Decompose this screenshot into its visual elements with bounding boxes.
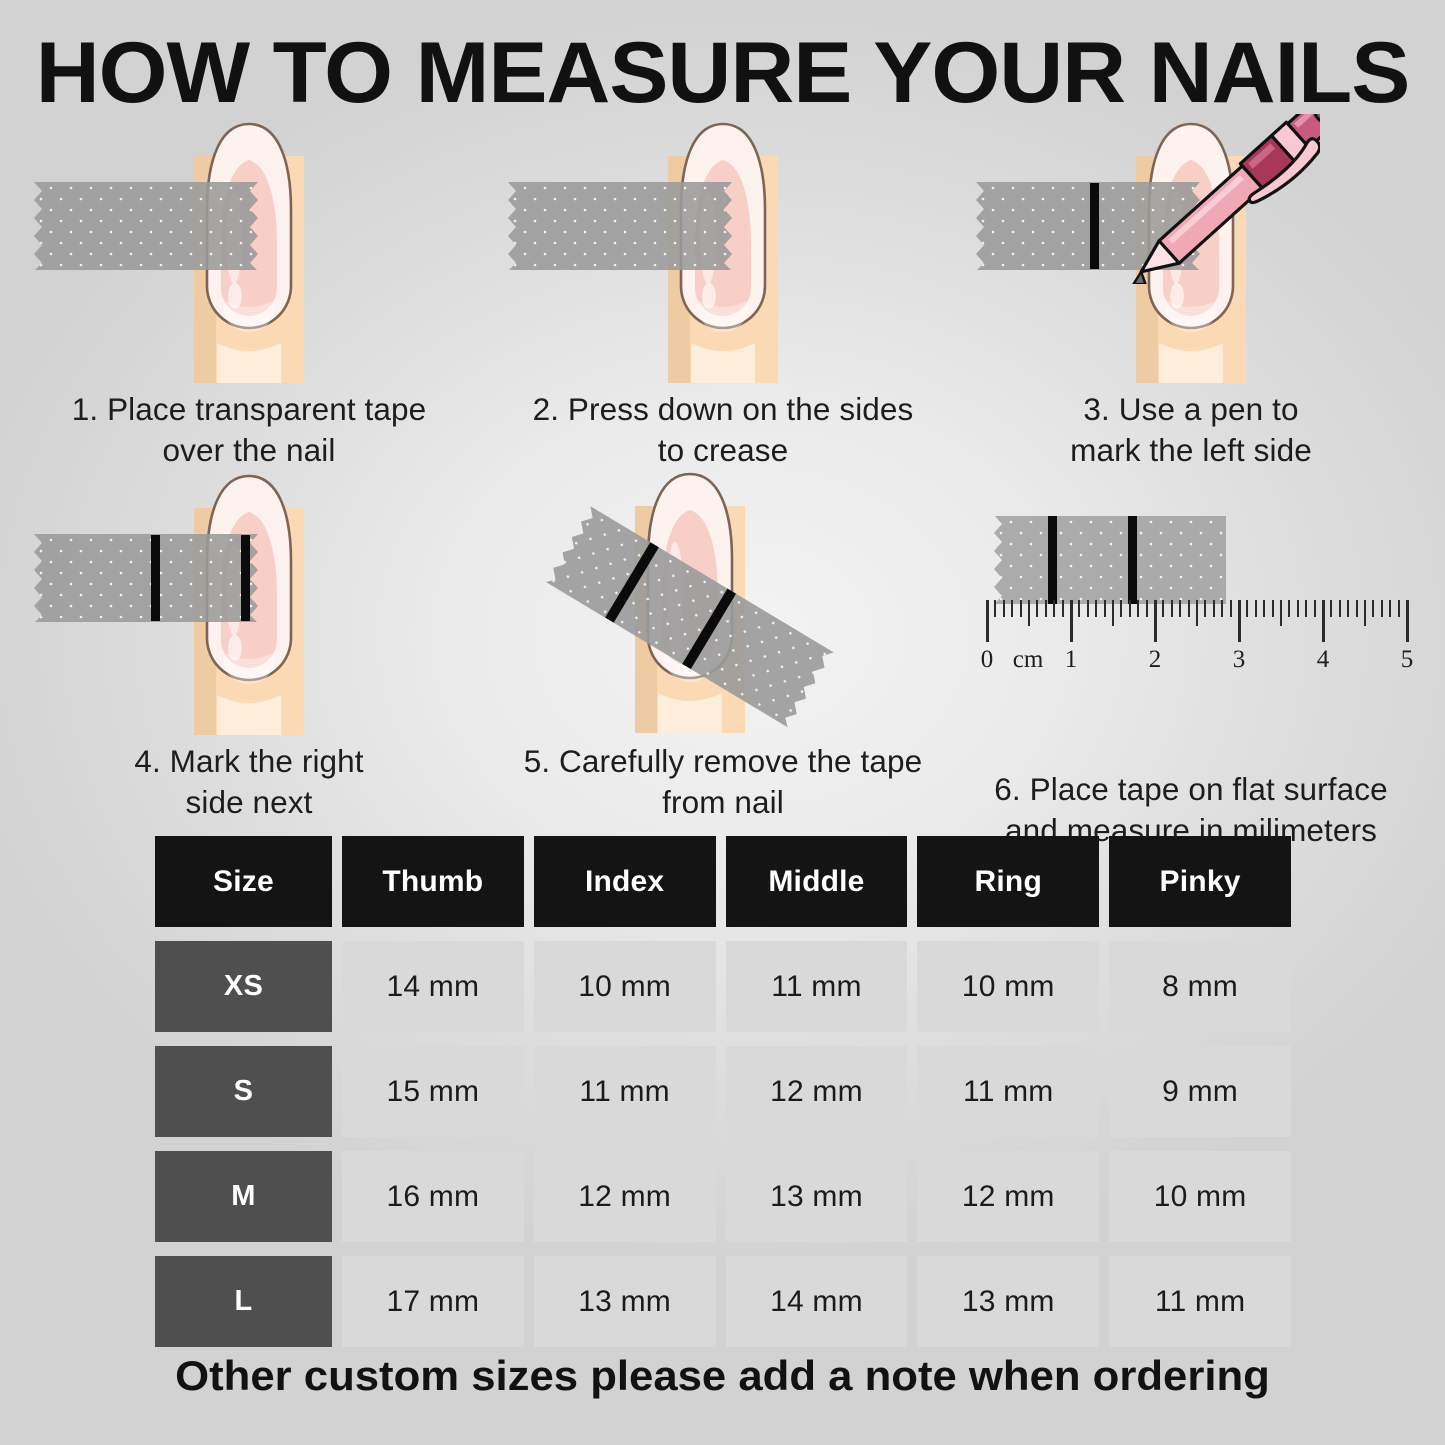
ruler-tick-minor — [1246, 600, 1248, 617]
ruler-tick-minor — [1179, 600, 1181, 617]
step-6-figure: 012345cm — [950, 470, 1432, 735]
step-5: 5. Carefully remove the tape from nail — [482, 470, 964, 823]
step-5-caption: 5. Carefully remove the tape from nail — [482, 741, 964, 823]
step-1: 1. Place transparent tape over the nail — [8, 118, 490, 471]
table-header-index: Index — [534, 836, 716, 927]
tape-strip — [986, 516, 1226, 609]
ruler-tick-minor — [1406, 600, 1409, 642]
ruler-tick-minor — [1028, 600, 1030, 626]
measurement-cell: 16 mm — [342, 1151, 524, 1242]
page-title: HOW TO MEASURE YOUR NAILS — [0, 24, 1445, 123]
ruler-label-4: 4 — [1317, 646, 1330, 674]
ruler-tick-minor — [1322, 600, 1325, 642]
ruler-tick-minor — [1095, 600, 1097, 617]
step-3-figure — [950, 118, 1432, 383]
measurement-cell: 12 mm — [726, 1046, 908, 1137]
step-4-caption-line2: side next — [8, 782, 490, 823]
ruler-tick-minor — [1196, 600, 1198, 626]
tape-strip — [26, 182, 266, 275]
ruler-tick-minor — [1356, 600, 1358, 617]
step-5-caption-line1: 5. Carefully remove the tape — [482, 741, 964, 782]
ruler-tick-minor — [1146, 600, 1148, 617]
step-3-caption: 3. Use a pen to mark the left side — [950, 389, 1432, 471]
ruler-tick-minor — [1104, 600, 1106, 617]
ruler-tick-minor — [1171, 600, 1173, 617]
tape-strip — [26, 534, 266, 627]
step-3-caption-line2: mark the left side — [950, 430, 1432, 471]
ruler-tick-minor — [1263, 600, 1265, 617]
ruler-tick-minor — [1078, 600, 1080, 617]
measurement-cell: 11 mm — [726, 941, 908, 1032]
measurement-cell: 8 mm — [1109, 941, 1291, 1032]
step-4-caption-line1: 4. Mark the right — [8, 741, 490, 782]
step-2-caption-line1: 2. Press down on the sides — [482, 389, 964, 430]
step-4: 4. Mark the right side next — [8, 470, 490, 823]
measurement-cell: 14 mm — [726, 1256, 908, 1347]
ruler-tick-minor — [986, 600, 989, 642]
measurement-cell: 13 mm — [726, 1151, 908, 1242]
table-header-ring: Ring — [917, 836, 1099, 927]
table-header-size: Size — [155, 836, 332, 927]
ruler-tick-minor — [1036, 600, 1038, 617]
ruler-tick-minor — [1288, 600, 1290, 617]
measurement-cell: 15 mm — [342, 1046, 524, 1137]
ruler-tick-minor — [1297, 600, 1299, 617]
step-2-caption: 2. Press down on the sides to crease — [482, 389, 964, 471]
ruler-tick-minor — [994, 600, 996, 617]
ruler-tick-minor — [1188, 600, 1190, 617]
ruler-tick-minor — [1062, 600, 1064, 617]
footer-note: Other custom sizes please add a note whe… — [0, 1352, 1445, 1400]
tape-strip — [500, 182, 740, 275]
step-5-caption-line2: from nail — [482, 782, 964, 823]
ruler-label-3: 3 — [1233, 646, 1246, 674]
table-row: L17 mm13 mm14 mm13 mm11 mm — [155, 1256, 1291, 1347]
ruler-tick-minor — [1381, 600, 1383, 617]
ruler-tick-minor — [1213, 600, 1215, 617]
ruler-tick-minor — [1347, 600, 1349, 617]
ruler-label-0: 0 — [981, 646, 994, 674]
ruler-tick-minor — [1154, 600, 1157, 642]
ruler-tick-minor — [1204, 600, 1206, 617]
measurement-cell: 9 mm — [1109, 1046, 1291, 1137]
ruler-tick-minor — [1129, 600, 1131, 617]
size-label-cell: XS — [155, 941, 332, 1032]
size-table: SizeThumbIndexMiddleRingPinky XS14 mm10 … — [155, 836, 1291, 1361]
ruler-tick-minor — [1314, 600, 1316, 617]
measurement-cell: 11 mm — [1109, 1256, 1291, 1347]
ruler-tick-minor — [1255, 600, 1257, 617]
size-label-cell: S — [155, 1046, 332, 1137]
step-3-caption-line1: 3. Use a pen to — [950, 389, 1432, 430]
step-4-figure — [8, 470, 490, 735]
ruler-tick-minor — [1272, 600, 1274, 617]
ruler-tick-minor — [1372, 600, 1374, 617]
measurement-cell: 13 mm — [917, 1256, 1099, 1347]
ruler-tick-minor — [1364, 600, 1366, 626]
table-header-thumb: Thumb — [342, 836, 524, 927]
ruler-tick-minor — [1011, 600, 1013, 617]
step-6: 012345cm 6. Place tape on flat surface a… — [950, 470, 1432, 851]
step-1-caption-line2: over the nail — [8, 430, 490, 471]
measurement-cell: 12 mm — [917, 1151, 1099, 1242]
ruler-label-5: 5 — [1401, 646, 1414, 674]
step-3: 3. Use a pen to mark the left side — [950, 118, 1432, 471]
step-1-caption: 1. Place transparent tape over the nail — [8, 389, 490, 471]
ruler-tick-minor — [1112, 600, 1114, 626]
ruler-tick-minor — [1330, 600, 1332, 617]
step-1-figure — [8, 118, 490, 383]
ruler-tick-minor — [1070, 600, 1073, 642]
ruler-tick-minor — [1305, 600, 1307, 617]
step-5-figure — [482, 470, 964, 735]
table-body: XS14 mm10 mm11 mm10 mm8 mmS15 mm11 mm12 … — [155, 941, 1291, 1347]
ruler-tick-minor — [1162, 600, 1164, 617]
table-header-pinky: Pinky — [1109, 836, 1291, 927]
ruler-tick-minor — [1120, 600, 1122, 617]
mark-line-left — [1090, 183, 1099, 269]
ruler-tick-minor — [1280, 600, 1282, 626]
ruler-tick-minor — [1045, 600, 1047, 617]
ruler-tick-minor — [1003, 600, 1005, 617]
step-6-caption-line1: 6. Place tape on flat surface — [950, 769, 1432, 810]
ruler-tick-minor — [1339, 600, 1341, 617]
measurement-cell: 17 mm — [342, 1256, 524, 1347]
measurement-cell: 11 mm — [917, 1046, 1099, 1137]
table-row: S15 mm11 mm12 mm11 mm9 mm — [155, 1046, 1291, 1137]
size-label-cell: M — [155, 1151, 332, 1242]
ruler-label-1: 1 — [1065, 646, 1078, 674]
mark-line-right — [241, 535, 250, 621]
ruler-tick-minor — [1137, 600, 1139, 617]
measurement-cell: 14 mm — [342, 941, 524, 1032]
ruler-tick-minor — [1053, 600, 1055, 617]
step-1-caption-line1: 1. Place transparent tape — [8, 389, 490, 430]
measurement-cell: 12 mm — [534, 1151, 716, 1242]
table-header-row: SizeThumbIndexMiddleRingPinky — [155, 836, 1291, 927]
ruler-tick-minor — [1238, 600, 1241, 642]
pen-icon — [1130, 114, 1320, 289]
table-row: M16 mm12 mm13 mm12 mm10 mm — [155, 1151, 1291, 1242]
mark-line-left — [151, 535, 160, 621]
ruler: 012345cm — [986, 600, 1406, 680]
ruler-tick-minor — [1389, 600, 1391, 617]
size-label-cell: L — [155, 1256, 332, 1347]
measurement-cell: 13 mm — [534, 1256, 716, 1347]
ruler-tick-minor — [1020, 600, 1022, 617]
measurement-cell: 10 mm — [917, 941, 1099, 1032]
ruler-unit-label: cm — [1013, 646, 1044, 674]
step-2-caption-line2: to crease — [482, 430, 964, 471]
ruler-tick-minor — [1221, 600, 1223, 617]
step-4-caption: 4. Mark the right side next — [8, 741, 490, 823]
measurement-cell: 10 mm — [534, 941, 716, 1032]
step-2-figure — [482, 118, 964, 383]
measurement-cell: 11 mm — [534, 1046, 716, 1137]
ruler-tick-minor — [1230, 600, 1232, 617]
ruler-tick-minor — [1398, 600, 1400, 617]
table-row: XS14 mm10 mm11 mm10 mm8 mm — [155, 941, 1291, 1032]
measurement-cell: 10 mm — [1109, 1151, 1291, 1242]
ruler-label-2: 2 — [1149, 646, 1162, 674]
infographic-root: HOW TO MEASURE YOUR NAILS — [0, 0, 1445, 1445]
table-header-middle: Middle — [726, 836, 908, 927]
step-2: 2. Press down on the sides to crease — [482, 118, 964, 471]
ruler-tick-minor — [1087, 600, 1089, 617]
